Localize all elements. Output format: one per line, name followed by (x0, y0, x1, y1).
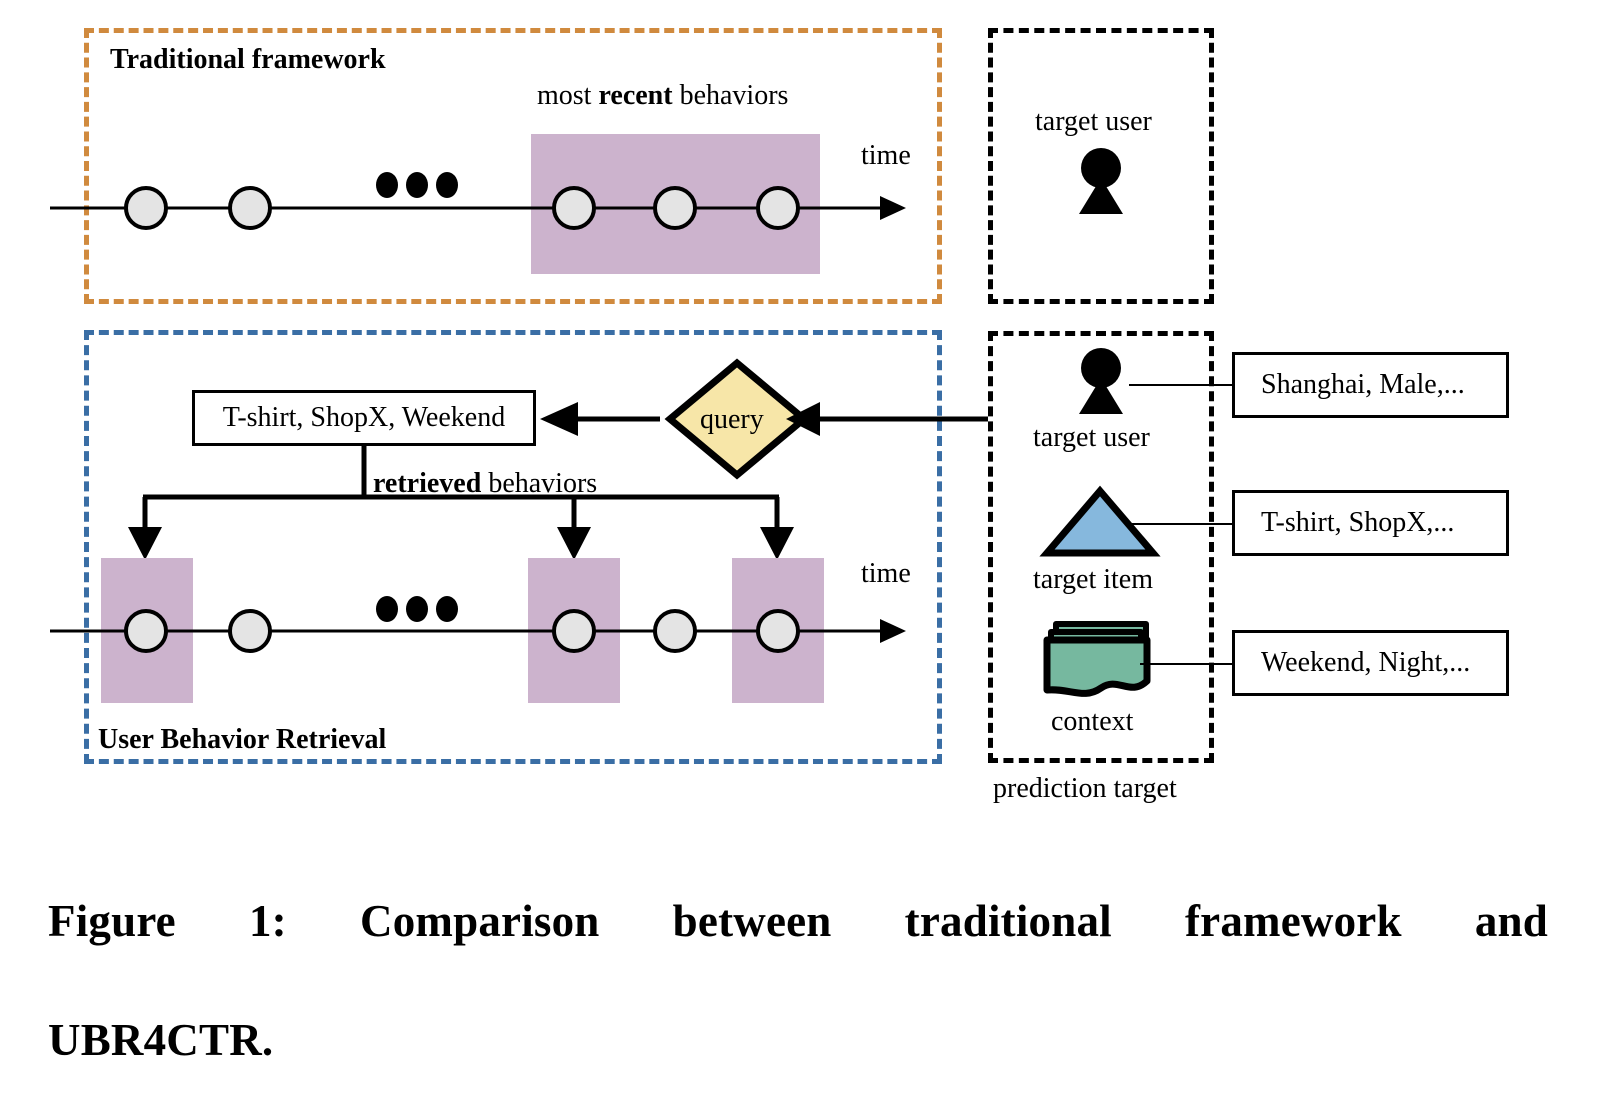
target-user-connector (1129, 384, 1236, 386)
ubr-ellipsis-dot (436, 596, 458, 622)
target-item-connector (1128, 523, 1236, 525)
traditional-ellipsis-dot (436, 172, 458, 198)
most-recent-behaviors-suffix: behaviors (673, 80, 789, 111)
prediction-target-label: prediction target (993, 775, 1177, 803)
query-diamond-label: query (700, 406, 764, 434)
traditional-time-label: time (861, 142, 911, 170)
behavior-node (552, 186, 596, 230)
behavior-node (228, 186, 272, 230)
behavior-node (124, 609, 168, 653)
context-connector (1140, 663, 1236, 665)
behavior-node (653, 609, 697, 653)
prediction-target-entry-label: target user (1033, 424, 1150, 452)
behavior-node (756, 186, 800, 230)
most-recent-behaviors-prefix: most (537, 80, 598, 111)
triangle-icon (1043, 487, 1157, 557)
figure-caption: Figure 1: Comparison between traditional… (48, 892, 1548, 1070)
ubr-ellipsis-dot (406, 596, 428, 622)
stacked-pages-icon (1046, 618, 1158, 696)
most-recent-behaviors-label: most recent behaviors (537, 82, 788, 110)
behavior-node (552, 609, 596, 653)
figure-canvas: Traditional framework most recent behavi… (0, 0, 1602, 1102)
target-user-value-box: Shanghai, Male,... (1232, 352, 1509, 418)
figure-caption-line2: UBR4CTR. (48, 1015, 273, 1065)
target-item-value-box: T-shirt, ShopX,... (1232, 490, 1509, 556)
person-icon (1071, 348, 1131, 416)
user-behavior-retrieval-title: User Behavior Retrieval (98, 726, 386, 754)
retrieved-behaviors-emphasis: retrieved (373, 468, 481, 499)
ubr-time-label: time (861, 560, 911, 588)
target-user-box-label: target user (1035, 108, 1152, 136)
traditional-ellipsis-dot (406, 172, 428, 198)
retrieved-behaviors-label: retrieved behaviors (373, 470, 597, 498)
behavior-node (653, 186, 697, 230)
query-result-box: T-shirt, ShopX, Weekend (192, 390, 536, 446)
context-value-box: Weekend, Night,... (1232, 630, 1509, 696)
ubr-ellipsis-dot (376, 596, 398, 622)
retrieved-behaviors-suffix: behaviors (481, 468, 597, 499)
person-icon (1071, 148, 1131, 216)
most-recent-behaviors-emphasis: recent (598, 80, 672, 111)
traditional-ellipsis-dot (376, 172, 398, 198)
figure-caption-line1: Figure 1: Comparison between traditional… (48, 892, 1548, 1011)
behavior-node (228, 609, 272, 653)
behavior-node (124, 186, 168, 230)
prediction-target-entry-label: context (1051, 708, 1133, 736)
prediction-target-entry-label: target item (1033, 566, 1153, 594)
behavior-node (756, 609, 800, 653)
traditional-framework-title: Traditional framework (110, 46, 386, 74)
